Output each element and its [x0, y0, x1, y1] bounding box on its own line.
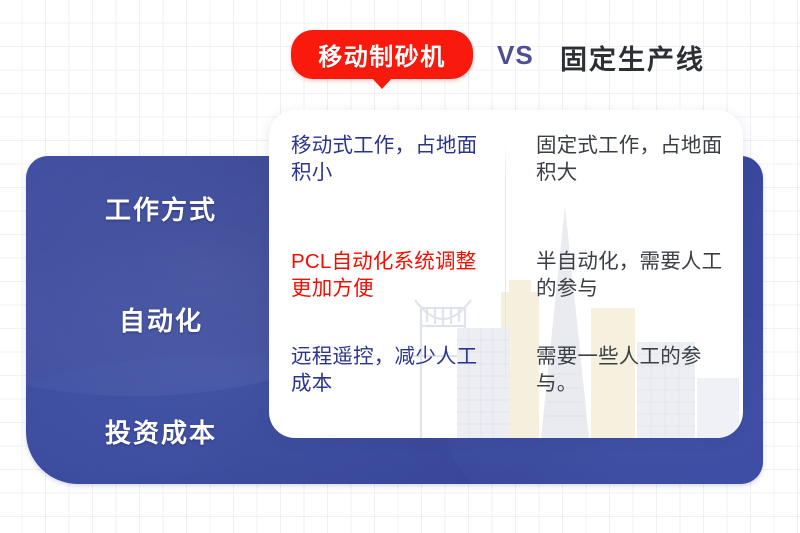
mobile-sand-maker-badge: 移动制砂机: [291, 30, 473, 84]
category-label-work-method: 工作方式: [56, 156, 266, 267]
fixed-production-line-title: 固定生产线: [560, 38, 705, 77]
comparison-columns: 移动式工作，占地面积小 PCL自动化系统调整更加方便 远程遥控，减少人工成本 固…: [269, 110, 743, 438]
cell-right-automation: 半自动化，需要人工的参与: [536, 227, 731, 322]
cell-right-work-method: 固定式工作，占地面积大: [536, 132, 731, 227]
cell-left-work-method: 移动式工作，占地面积小: [291, 132, 492, 227]
category-label-list: 工作方式 自动化 投资成本: [56, 156, 266, 484]
cell-right-investment-cost: 需要一些人工的参与。: [536, 323, 731, 418]
vs-label: VS: [497, 40, 534, 71]
mobile-sand-maker-column: 移动式工作，占地面积小 PCL自动化系统调整更加方便 远程遥控，减少人工成本: [269, 110, 506, 438]
cell-left-investment-cost: 远程遥控，减少人工成本: [291, 323, 492, 418]
badge-pointer-tail-icon: [371, 77, 393, 89]
comparison-card: 移动式工作，占地面积小 PCL自动化系统调整更加方便 远程遥控，减少人工成本 固…: [269, 110, 743, 438]
fixed-production-line-column: 固定式工作，占地面积大 半自动化，需要人工的参与 需要一些人工的参与。: [506, 110, 743, 438]
category-label-investment-cost: 投资成本: [56, 375, 266, 484]
badge-label: 移动制砂机: [318, 37, 446, 72]
comparison-header: 移动制砂机 VS 固定生产线: [0, 26, 800, 96]
cell-left-automation: PCL自动化系统调整更加方便: [291, 227, 492, 322]
category-label-automation: 自动化: [56, 267, 266, 374]
badge-pill: 移动制砂机: [291, 30, 473, 79]
